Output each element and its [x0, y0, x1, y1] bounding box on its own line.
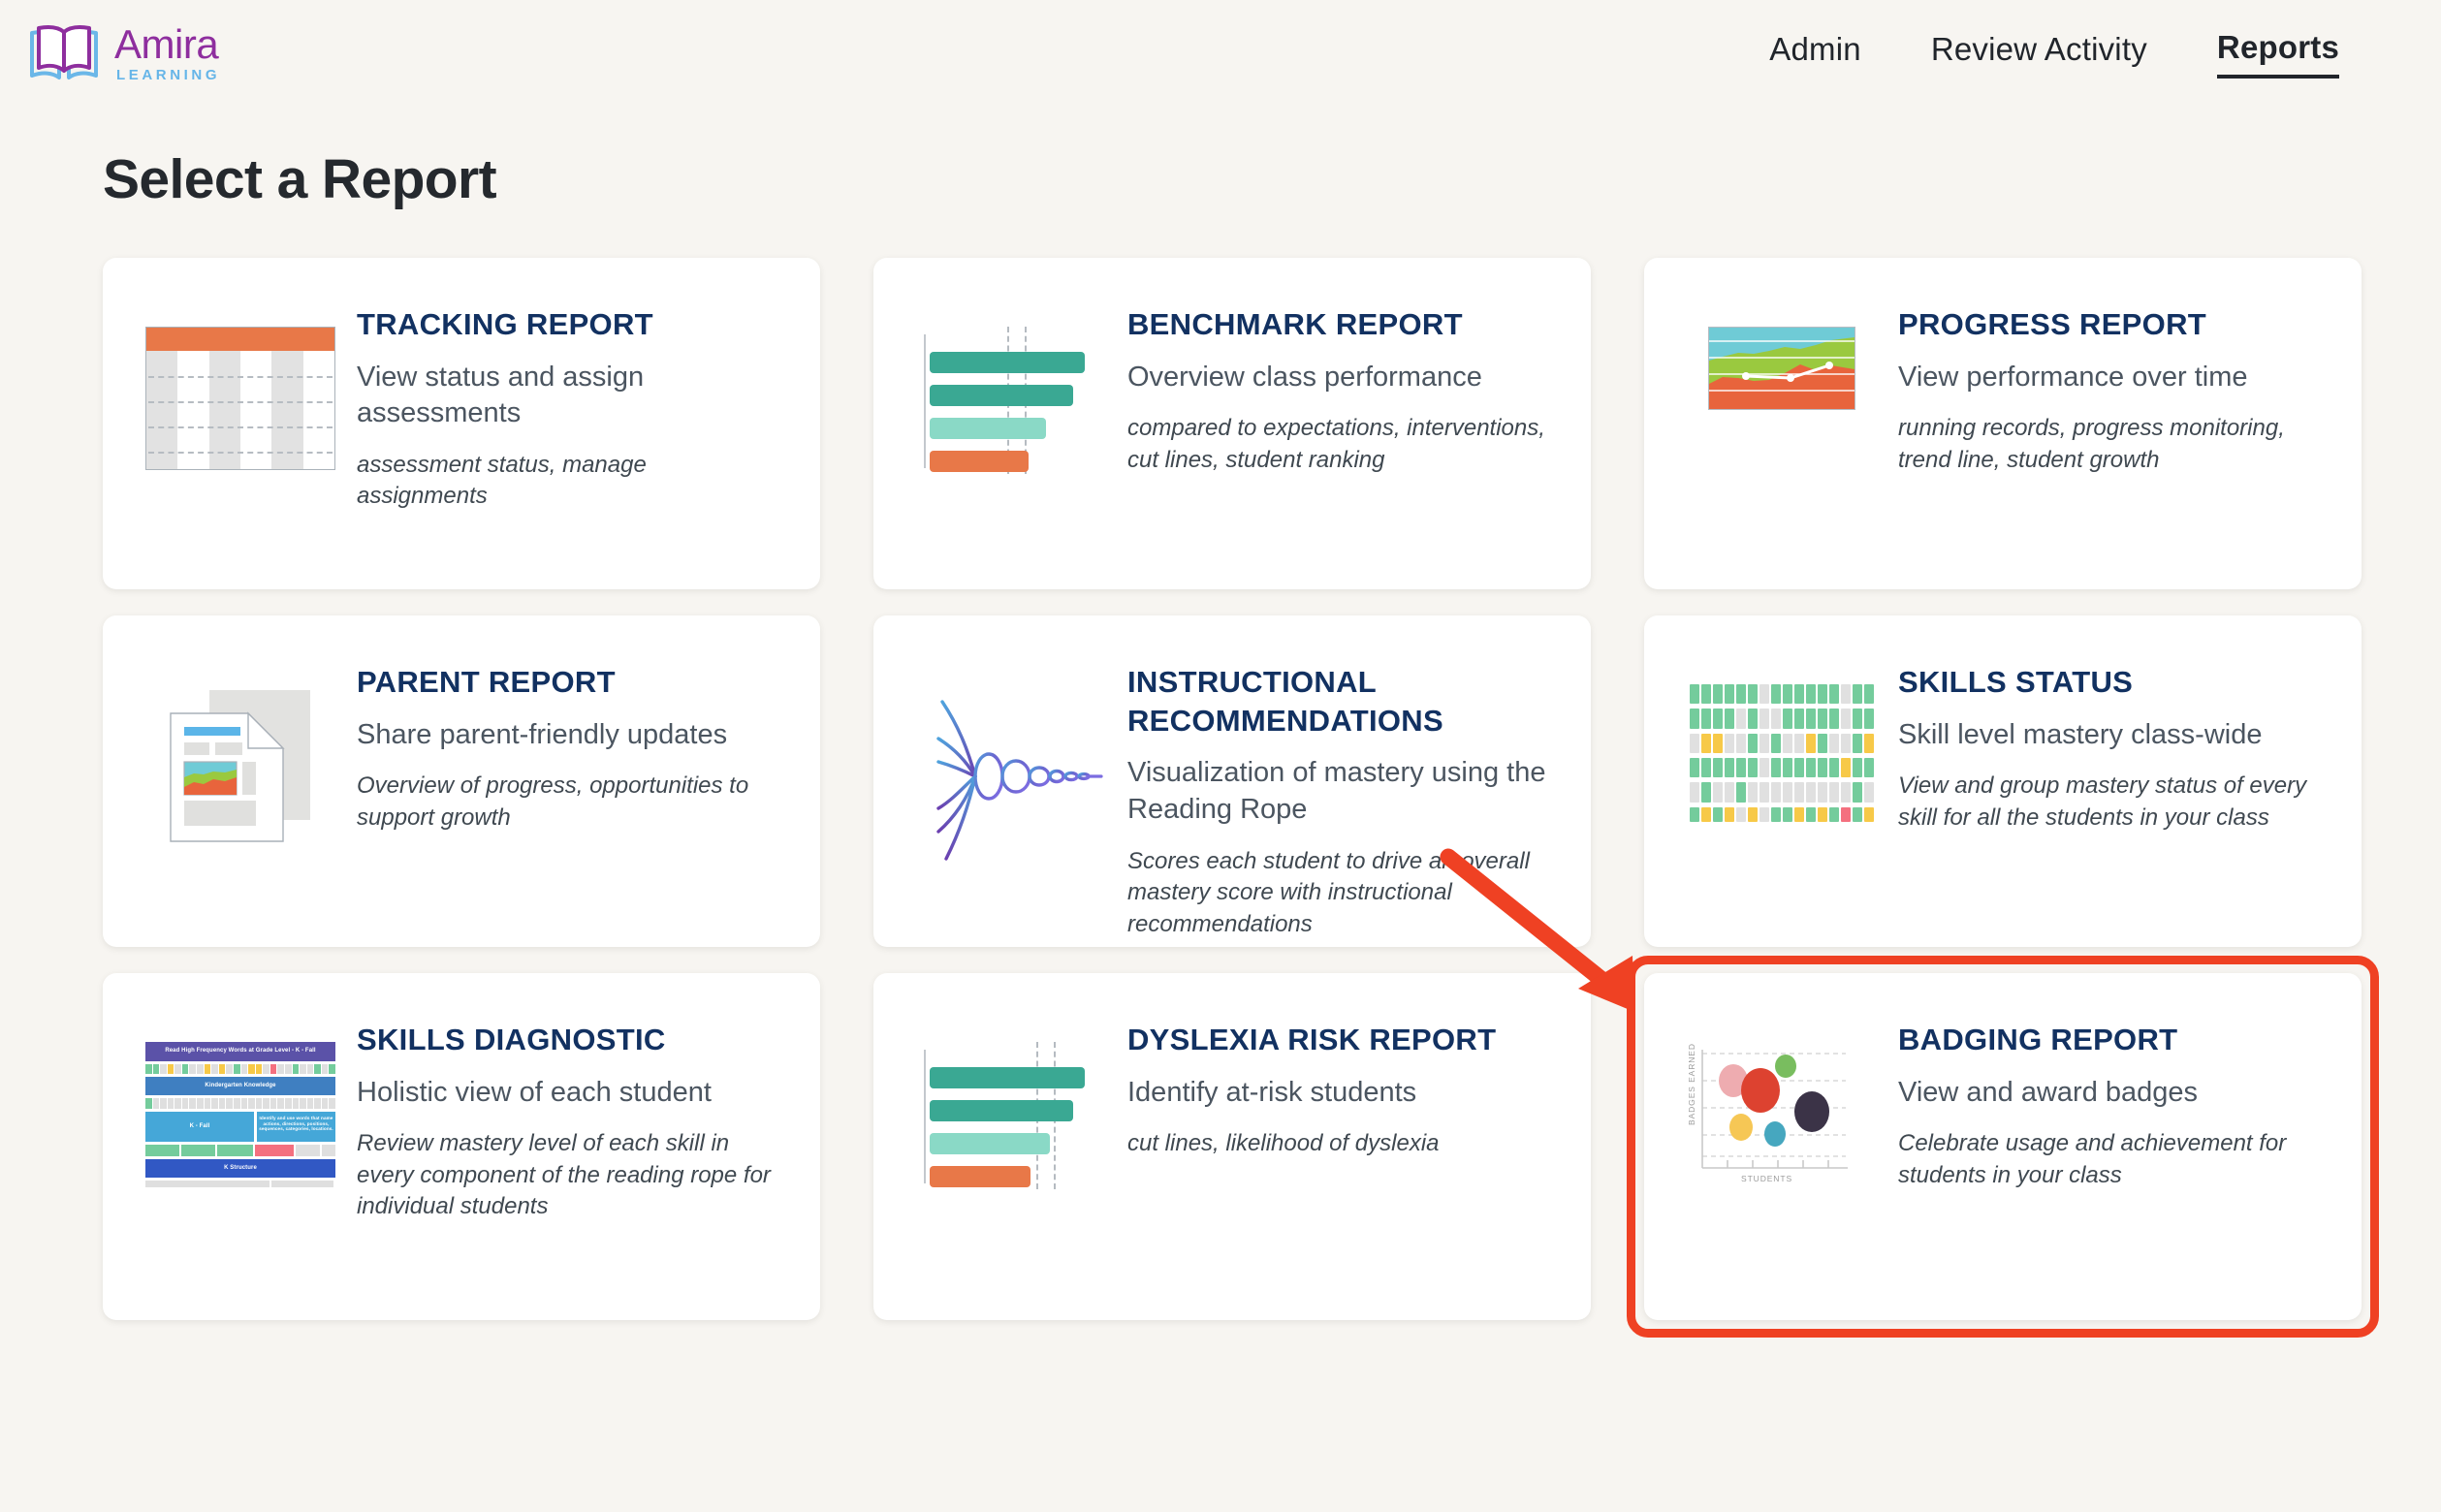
brand-logo[interactable]: Amira LEARNING: [27, 23, 220, 83]
skills-status-thumbnail: [1675, 661, 1888, 822]
instructional-recommendations-thumbnail: [904, 661, 1118, 868]
badging-x-axis-label: STUDENTS: [1741, 1174, 1792, 1183]
card-body: BADGING REPORT View and award badges Cel…: [1888, 1019, 2323, 1191]
progress-report-thumbnail: [1675, 303, 1888, 410]
card-body: INSTRUCTIONAL RECOMMENDATIONS Visualizat…: [1118, 661, 1552, 940]
card-title: SKILLS STATUS: [1898, 663, 2323, 702]
card-description: View and award badges: [1898, 1075, 2323, 1112]
card-meta: View and group mastery status of every s…: [1898, 771, 2323, 834]
card-meta: running records, progress monitoring, tr…: [1898, 413, 2323, 476]
card-title: BENCHMARK REPORT: [1127, 305, 1552, 344]
nav-item-reports[interactable]: Reports: [2217, 29, 2339, 79]
tracking-report-thumbnail: [134, 303, 347, 470]
parent-report-thumbnail: [134, 661, 347, 847]
open-book-icon: [27, 23, 101, 83]
card-title: SKILLS DIAGNOSTIC: [357, 1021, 781, 1059]
report-card-tracking-report[interactable]: TRACKING REPORT View status and assign a…: [103, 258, 820, 589]
card-body: TRACKING REPORT View status and assign a…: [347, 303, 781, 513]
badging-report-thumbnail: BADGES EARNED STUDENTS: [1675, 1019, 1888, 1185]
card-description: Skill level mastery class-wide: [1898, 717, 2323, 754]
card-meta: Scores each student to drive an overall …: [1127, 846, 1552, 940]
diagnostic-band-label: K Structure: [145, 1159, 335, 1179]
card-meta: Celebrate usage and achievement for stud…: [1898, 1128, 2323, 1191]
nav-item-admin[interactable]: Admin: [1769, 31, 1861, 77]
card-description: Holistic view of each student: [357, 1075, 781, 1112]
report-card-dyslexia-risk-report[interactable]: DYSLEXIA RISK REPORT Identify at-risk st…: [873, 973, 1591, 1320]
report-card-benchmark-report[interactable]: BENCHMARK REPORT Overview class performa…: [873, 258, 1591, 589]
card-meta: Review mastery level of each skill in ev…: [357, 1128, 781, 1222]
card-description: Visualization of mastery using the Readi…: [1127, 755, 1552, 828]
card-body: DYSLEXIA RISK REPORT Identify at-risk st…: [1118, 1019, 1552, 1160]
card-body: PARENT REPORT Share parent-friendly upda…: [347, 661, 781, 834]
report-card-skills-status[interactable]: SKILLS STATUS Skill level mastery class-…: [1644, 615, 2362, 947]
card-description: Overview class performance: [1127, 360, 1552, 396]
card-description: Identify at-risk students: [1127, 1075, 1552, 1112]
card-title: BADGING REPORT: [1898, 1021, 2323, 1059]
bar-chart-thumbnail-icon: [920, 1042, 1102, 1189]
area-chart-thumbnail-icon: [1708, 327, 1855, 410]
diagnostic-table-thumbnail-icon: Read High Frequency Words at Grade Level…: [145, 1042, 335, 1187]
table-thumbnail-icon: [145, 327, 335, 470]
card-title: PROGRESS REPORT: [1898, 305, 2323, 344]
card-meta: cut lines, likelihood of dyslexia: [1127, 1128, 1552, 1159]
card-title: INSTRUCTIONAL RECOMMENDATIONS: [1127, 663, 1552, 740]
diagnostic-band-label: Read High Frequency Words at Grade Level…: [145, 1042, 335, 1061]
dyslexia-risk-report-thumbnail: [904, 1019, 1118, 1189]
report-card-grid: TRACKING REPORT View status and assign a…: [103, 258, 2371, 1320]
main-nav: Admin Review Activity Reports: [1769, 29, 2339, 79]
card-meta: assessment status, manage assignments: [357, 450, 781, 513]
card-body: BENCHMARK REPORT Overview class performa…: [1118, 303, 1552, 476]
diagnostic-band-label: K - Fall: [145, 1112, 254, 1143]
skills-grid-thumbnail-icon: [1690, 684, 1874, 822]
app-header: Amira LEARNING Admin Review Activity Rep…: [0, 0, 2441, 107]
report-card-parent-report[interactable]: PARENT REPORT Share parent-friendly upda…: [103, 615, 820, 947]
card-body: PROGRESS REPORT View performance over ti…: [1888, 303, 2323, 476]
diagnostic-band-label: Kindergarten Knowledge: [145, 1077, 335, 1096]
card-title: DYSLEXIA RISK REPORT: [1127, 1021, 1552, 1059]
nav-item-review-activity[interactable]: Review Activity: [1931, 31, 2147, 77]
bar-chart-thumbnail-icon: [920, 327, 1102, 474]
card-description: Share parent-friendly updates: [357, 717, 781, 754]
badging-y-axis-label: BADGES EARNED: [1687, 1043, 1696, 1125]
report-card-instructional-recommendations[interactable]: INSTRUCTIONAL RECOMMENDATIONS Visualizat…: [873, 615, 1591, 947]
bubble-chart-thumbnail-icon: BADGES EARNED STUDENTS: [1685, 1042, 1879, 1185]
reading-rope-thumbnail-icon: [919, 684, 1103, 868]
skills-diagnostic-thumbnail: Read High Frequency Words at Grade Level…: [134, 1019, 347, 1187]
document-thumbnail-icon: [165, 684, 316, 847]
card-body: SKILLS DIAGNOSTIC Holistic view of each …: [347, 1019, 781, 1223]
brand-name: Amira: [114, 24, 220, 65]
card-meta: Overview of progress, opportunities to s…: [357, 771, 781, 834]
report-card-skills-diagnostic[interactable]: Read High Frequency Words at Grade Level…: [103, 973, 820, 1320]
card-body: SKILLS STATUS Skill level mastery class-…: [1888, 661, 2323, 834]
page-title: Select a Report: [103, 147, 2441, 211]
card-meta: compared to expectations, interventions,…: [1127, 413, 1552, 476]
card-title: TRACKING REPORT: [357, 305, 781, 344]
benchmark-report-thumbnail: [904, 303, 1118, 474]
brand-subtitle: LEARNING: [116, 68, 220, 82]
card-title: PARENT REPORT: [357, 663, 781, 702]
report-card-badging-report[interactable]: BADGES EARNED STUDENTS BADGING REPORT Vi…: [1644, 973, 2362, 1320]
card-description: View status and assign assessments: [357, 360, 781, 432]
card-description: View performance over time: [1898, 360, 2323, 396]
diagnostic-band-label: Identify and use words that name actions…: [257, 1112, 335, 1143]
report-card-progress-report[interactable]: PROGRESS REPORT View performance over ti…: [1644, 258, 2362, 589]
